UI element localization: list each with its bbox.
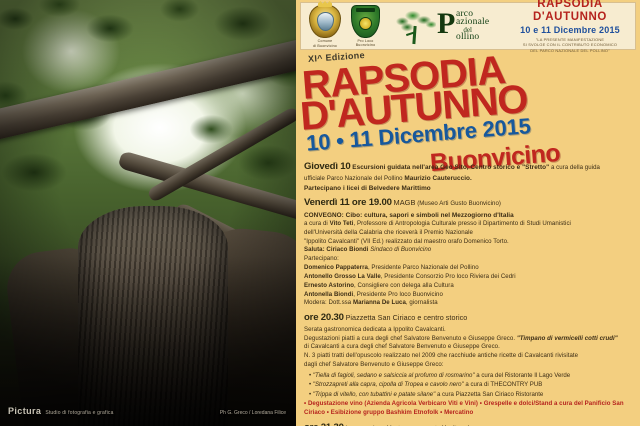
program-day1-participants: Partecipano i licei di Belvedere Maritti… xyxy=(304,184,634,193)
program-dish-by: a cura del Ristorante Il Lago Verde xyxy=(475,372,571,379)
program-highlight-market: Mercatino xyxy=(444,409,473,416)
participant-role: , Presidente Parco Nazionale del Pollino xyxy=(368,264,479,271)
program-evening-venue: Piazzetta San Ciriaco e centro storico xyxy=(346,313,468,322)
logo-pro-loco-buonvicino: Pro Loco Buonvicino xyxy=(351,5,380,48)
program-dish-item: "Trippa di vitello, con tubattini e pata… xyxy=(304,390,634,399)
program-day2-greeting: Saluta: Ciriaco Biondi Sindaco di Buonvi… xyxy=(304,246,634,255)
program-dish-name: "Tiella di fagioli, sedano e salsiccia a… xyxy=(313,372,475,379)
participant-role: , Presidente Pro loco Buonvicino xyxy=(353,291,443,298)
photo-credit-brand: Pictura xyxy=(8,406,41,416)
photo-credit-right: Ph G. Greco / Loredana Filice xyxy=(220,410,286,416)
park-logo-line2: azionale xyxy=(456,18,489,28)
program-day2-greeting-label: Saluta: xyxy=(304,246,325,253)
program-day2-curator-prefix: a cura di xyxy=(304,220,328,227)
program-day1-line2: ufficiale Parco Nazionale del Pollino Ma… xyxy=(304,174,634,184)
program-evening-desc5: dagli chef Salvatore Benvenuto e Giusepp… xyxy=(304,361,634,370)
program-participant-row: Antonello Grosso La Valle, Presidente Co… xyxy=(304,273,634,282)
pro-loco-sun-icon xyxy=(360,18,371,29)
logo-comune-caption-line2: di Buonvicino xyxy=(313,44,337,48)
program-moderator: Modera: Dott.ssa Marianna De Luca, giorn… xyxy=(304,299,634,308)
poster-content-column: Comune di Buonvicino Pro Loco Buonvicino xyxy=(296,0,640,426)
program-day1-guide-prefix: ufficiale Parco Nazionale del Pollino xyxy=(304,175,403,182)
park-logo-letter-p: P xyxy=(437,9,455,39)
program-day2-greeting-role: Sindaco di Buonvicino xyxy=(370,246,431,253)
sponsor-header-band: Comune di Buonvicino Pro Loco Buonvicino xyxy=(300,2,636,50)
program-day1-guide-name: Maurizio Cauteruccio. xyxy=(404,175,471,182)
participant-role: , Consigliere con delega alla Cultura xyxy=(354,282,454,289)
program-evening-desc1: Serata gastronomica dedicata a Ippolito … xyxy=(304,326,634,335)
program-day2-participants-label: Partecipano: xyxy=(304,255,634,264)
participant-name: Antonello Grosso La Valle xyxy=(304,273,381,280)
event-poster: PicturaStudio di fotografia e grafica Ph… xyxy=(0,0,640,426)
program-day2-curator-detail1: , Professore di Antropologia Culturale p… xyxy=(354,220,571,227)
comune-crest-inner-shield xyxy=(317,12,334,31)
park-tree-icon xyxy=(394,6,438,46)
main-title-block: XI^ Edizione RAPSODIA D'AUTUNNO 10 • 11 … xyxy=(296,52,640,162)
photo-credit-left: PicturaStudio di fotografia e grafica xyxy=(8,406,114,416)
program-highlights: • Degustazione vino (Azienda Agricola Ve… xyxy=(304,400,634,418)
tree-photo: PicturaStudio di fotografia e grafica Ph… xyxy=(0,0,296,426)
program-day2-curator-name: Vito Teti xyxy=(330,220,354,227)
logo-pro-loco-caption-line2: Buonvicino xyxy=(356,43,376,47)
sponsor-logos: Comune di Buonvicino Pro Loco Buonvicino xyxy=(301,4,509,48)
park-logo-wordmark: P arco azionale del ollino xyxy=(439,10,489,43)
program-day2-curator-detail2: dell'Università della Calabria che ricev… xyxy=(304,229,634,238)
logo-comune-caption: Comune di Buonvicino xyxy=(313,39,337,48)
program-participant-row: Ernesto Astorino, Consigliere con delega… xyxy=(304,282,634,291)
program-closing-line: ore 21.30 Inaugurazione Mostra permanent… xyxy=(304,421,634,426)
program-day2-curator-detail3: "Ippolito Cavalcanti" (VII Ed.) realizza… xyxy=(304,238,634,247)
program-dish-list: "Tiella di fagioli, sedano e salsiccia a… xyxy=(304,371,634,399)
photo-credit-brand-text: Studio di fotografia e grafica xyxy=(45,410,113,416)
park-logo-line4: ollino xyxy=(456,33,489,43)
program-day1-heading: Giovedì 10 xyxy=(304,161,351,172)
program-highlight-wine: Degustazione vino (Azienda Agricola Verb… xyxy=(308,400,478,407)
program-evening-heading: ore 20.30 xyxy=(304,312,344,323)
participant-name: Ernesto Astorino xyxy=(304,282,354,289)
program-moderator-role: , giornalista xyxy=(406,299,438,306)
participant-role: , Presidente Consorzio Pro loco Riviera … xyxy=(381,273,516,280)
program-day1-activity-cont: a cura della guida xyxy=(551,164,600,171)
program-evening-line1: ore 20.30 Piazzetta San Ciriaco e centro… xyxy=(304,311,634,326)
program-day2-greeting-name: Ciriaco Biondi xyxy=(326,246,368,253)
program-dish-item: "Strozzapreti alla capra, cipolla di Tro… xyxy=(304,380,634,389)
logo-comune-buonvicino: Comune di Buonvicino xyxy=(309,4,341,48)
program-day1-activity: Escursioni guidata nell'area Geo Sito, C… xyxy=(352,164,549,171)
program-evening-desc4: N. 3 piatti tratti dell'opuscolo realizz… xyxy=(304,352,634,361)
program-participant-row: Antonella Biondi, Presidente Pro loco Bu… xyxy=(304,291,634,300)
program-day2-curator-line: a cura di Vito Teti, Professore di Antro… xyxy=(304,220,634,229)
program-schedule: Giovedì 10 Escursioni guidata nell'area … xyxy=(304,160,634,426)
program-dish-name: "Trippa di vitello, con tubattini e pata… xyxy=(313,391,435,398)
program-evening-desc3: di Cavalcanti a cura degli chef Salvator… xyxy=(304,343,634,352)
program-day2-heading: Venerdì 11 ore 19.00 xyxy=(304,197,392,208)
program-evening-desc2-text: Degustazioni piatti a cura degli chef Sa… xyxy=(304,335,515,342)
program-day2-venue-detail: (Museo Arti Gusto Buonvicino) xyxy=(417,200,501,207)
program-dish-name: "Strozzapreti alla capra, cipolla di Tro… xyxy=(313,381,464,388)
logo-pro-loco-caption: Pro Loco Buonvicino xyxy=(356,39,376,48)
header-event-title: RAPSODIA D'AUTUNNO xyxy=(509,0,631,24)
pro-loco-shield-icon xyxy=(351,5,380,38)
program-moderator-name: Marianna De Luca xyxy=(353,299,406,306)
park-tree-trunk xyxy=(412,26,416,44)
program-participant-row: Domenico Pappaterra, Presidente Parco Na… xyxy=(304,264,634,273)
program-day1-line1: Giovedì 10 Escursioni guidata nell'area … xyxy=(304,160,634,174)
program-day2-venue: MAGB xyxy=(394,198,416,207)
comune-crest-icon xyxy=(309,4,341,38)
program-dish-item: "Tiella di fagioli, sedano e salsiccia a… xyxy=(304,371,634,380)
photo-vignette xyxy=(0,0,296,426)
program-highlight-group: Esibizione gruppo Bashkim Etnofolk xyxy=(331,409,439,416)
program-day2-line1: Venerdì 11 ore 19.00 MAGB (Museo Arti Gu… xyxy=(304,196,634,211)
program-evening-desc2: Degustazioni piatti a cura degli chef Sa… xyxy=(304,335,634,344)
program-closing-heading: ore 21.30 xyxy=(304,422,344,426)
logo-parco-nazionale-pollino: P arco azionale del ollino xyxy=(390,6,489,46)
program-moderator-label: Modera: Dott.ssa xyxy=(304,299,351,306)
header-event-summary: RAPSODIA D'AUTUNNO 10 e 11 Dicembre 2015… xyxy=(509,0,635,54)
participant-name: Antonella Biondi xyxy=(304,291,353,298)
program-evening-signature-dish: "Timpano di vermicelli cotti crudi" xyxy=(517,335,618,342)
header-event-dates: 10 e 11 Dicembre 2015 xyxy=(509,25,631,35)
program-day2-convegno: CONVEGNO: Cibo: cultura, sapori e simbol… xyxy=(304,211,634,220)
program-dish-by: a cura di THECONTRY PUB xyxy=(464,381,543,388)
program-dish-by: a cura Piazzetta San Ciriaco Ristorante xyxy=(435,391,543,398)
participant-name: Domenico Pappaterra xyxy=(304,264,368,271)
